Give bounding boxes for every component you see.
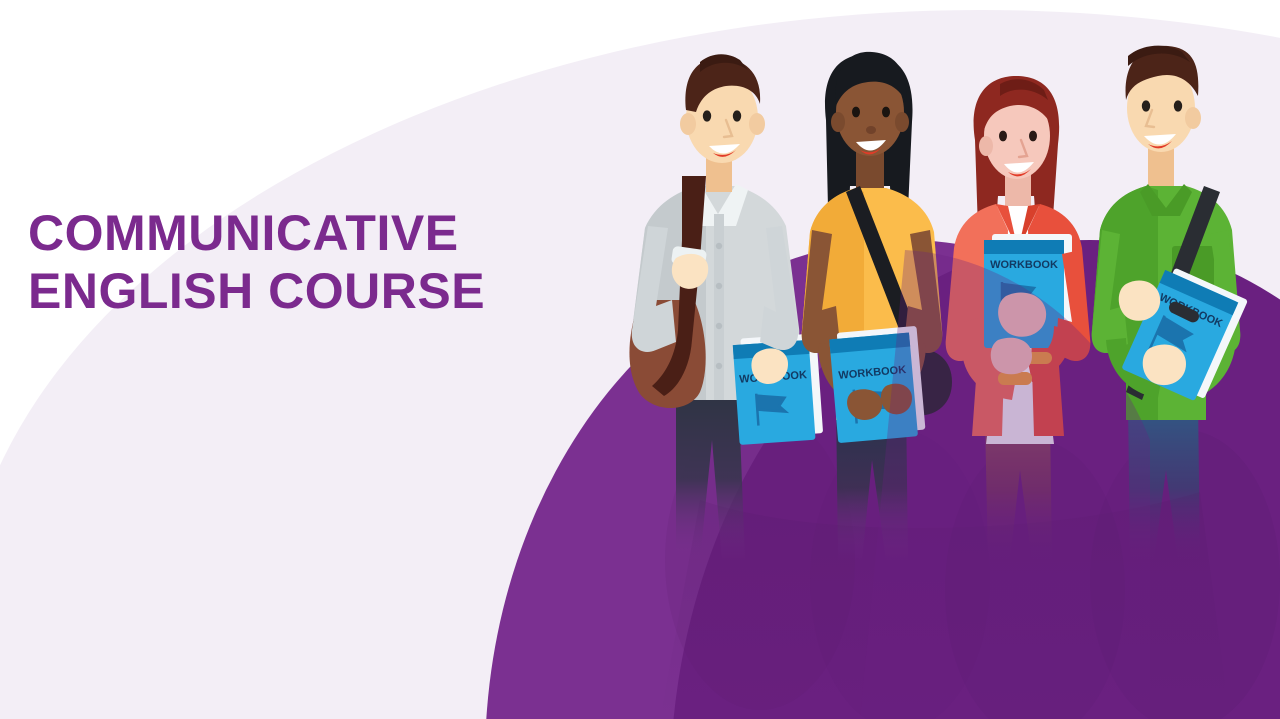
student-1-ear-left bbox=[680, 113, 696, 135]
student-4-hand-upper bbox=[1119, 280, 1160, 320]
slide-canvas: WORKBOOK bbox=[0, 0, 1280, 719]
student-3-eye-left bbox=[999, 131, 1007, 142]
student-1-eye-right bbox=[733, 110, 741, 121]
student-4-eye-left bbox=[1142, 100, 1150, 111]
student-2-eye-right bbox=[882, 107, 890, 118]
student-1-placket bbox=[714, 214, 724, 400]
student-3-eye-right bbox=[1029, 131, 1037, 142]
student-1-button-1 bbox=[716, 243, 722, 249]
student-2-ear-left bbox=[831, 112, 845, 132]
student-4-neck bbox=[1148, 148, 1174, 192]
student-1-eye-left bbox=[703, 110, 711, 121]
student-1-button-2 bbox=[716, 283, 722, 289]
student-3-book-spine bbox=[984, 240, 1064, 254]
student-4-ear-right bbox=[1185, 107, 1201, 129]
student-1-button-3 bbox=[716, 323, 722, 329]
slide-artwork: WORKBOOK bbox=[0, 0, 1280, 719]
student-2-eye-left bbox=[852, 107, 860, 118]
student-1-ear-right bbox=[749, 113, 765, 135]
student-4-hand-lower bbox=[1143, 345, 1186, 386]
student-4-eye-right bbox=[1174, 100, 1182, 111]
student-3-book-label: WORKBOOK bbox=[990, 259, 1058, 271]
student-1-neck bbox=[706, 158, 732, 192]
student-2-ear-right bbox=[895, 112, 909, 132]
student-1-button-4 bbox=[716, 363, 722, 369]
student-2-nose bbox=[866, 126, 876, 134]
student-3-ear-left bbox=[979, 136, 993, 156]
